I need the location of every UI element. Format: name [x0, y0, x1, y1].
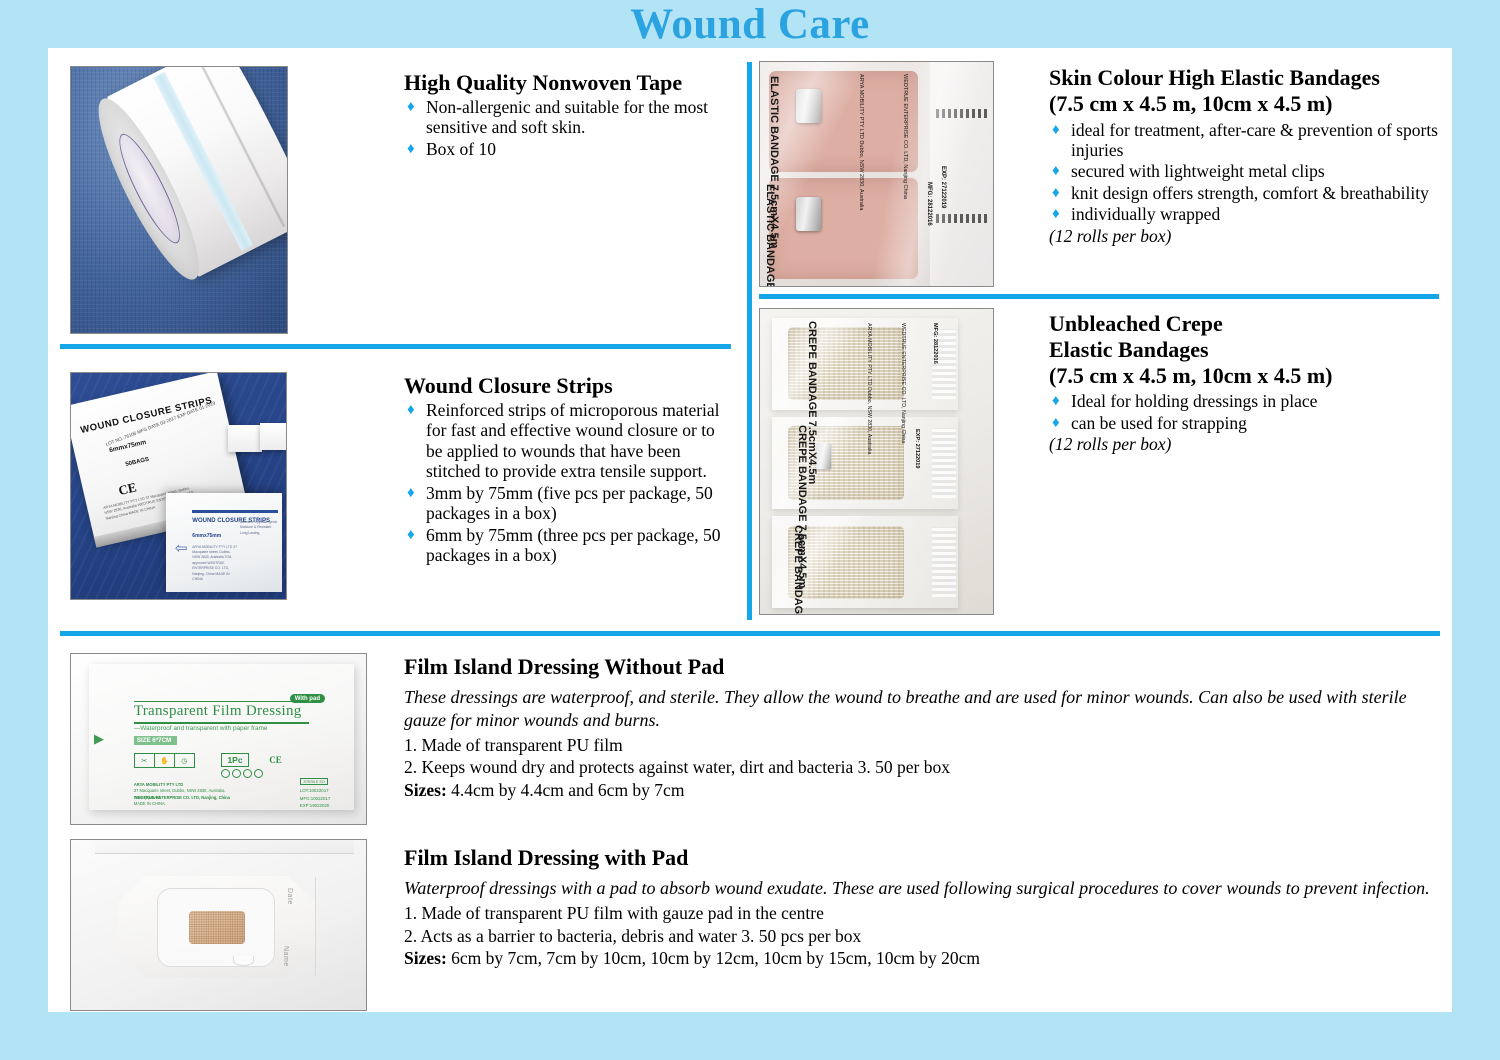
nonwoven-tape-roll-photo	[70, 66, 288, 334]
frame-tab-line	[315, 877, 316, 976]
dressing-pouch: ▶ With pad Transparent Film Dressing —Wa…	[89, 664, 355, 810]
do-not-reuse-icon	[221, 769, 230, 778]
wound-closure-strips-sachet: WOUND CLOSURE STRIPS 6mmx75mm ARYA MOBIL…	[166, 493, 282, 592]
diamond-bullet-icon: ♦	[407, 527, 415, 545]
elastic-bandage-roll-1	[769, 71, 918, 172]
film-dressing-without-pad-lead: These dressings are waterproof, and ster…	[404, 686, 1434, 731]
sachet-features-text: Adhesive Hypoallergenic Moisture & Resis…	[240, 520, 278, 537]
diamond-bullet-icon: ♦	[407, 402, 415, 420]
pouch-company-2-note: MADE IN CHINA.	[134, 801, 166, 806]
list-item-label: ideal for treatment, after-care & preven…	[1071, 120, 1438, 160]
bandage-exp-text: EXP: 27122019	[940, 166, 946, 208]
name-label: Name	[282, 946, 289, 967]
diamond-bullet-icon: ♦	[1052, 415, 1060, 433]
bandage-mfg-text: MFG: 28122016	[926, 182, 932, 226]
diamond-bullet-icon: ♦	[1052, 185, 1060, 203]
pouch-pictogram-group: ✂ ✋ ◷	[134, 753, 195, 768]
nonwoven-tape-bullet-list: ♦ Non-allergenic and suitable for the mo…	[404, 97, 734, 159]
date-label: Date	[286, 888, 293, 905]
diamond-bullet-icon: ♦	[407, 485, 415, 503]
list-item: ♦ individually wrapped	[1049, 204, 1449, 224]
metal-clip-icon	[796, 89, 821, 123]
list-item-label: 3mm by 75mm (five pcs per package, 50 pa…	[426, 483, 713, 523]
wound-closure-strips-text: Wound Closure Strips ♦ Reinforced strips…	[404, 374, 734, 567]
film-dressing-with-pad-line-2: 2. Acts as a barrier to bacteria, debris…	[404, 925, 1434, 948]
list-item-label: Box of 10	[426, 139, 496, 159]
diamond-bullet-icon: ♦	[407, 99, 415, 117]
pouch-lot-code: LOT:10022017	[300, 787, 331, 795]
elastic-bandage-roll-2	[769, 178, 918, 279]
sachet-size: 6mmx75mm	[192, 533, 221, 539]
nonwoven-tape-text: High Quality Nonwoven Tape ♦ Non-allerge…	[404, 71, 734, 160]
skin-colour-bandages-text: Skin Colour High Elastic Bandages (7.5 c…	[1049, 66, 1449, 246]
divider-bottom-section	[60, 631, 1440, 636]
product-film-dressing-without-pad: ▶ With pad Transparent Film Dressing —Wa…	[48, 645, 1452, 830]
metal-clip-icon	[796, 197, 821, 231]
unbleached-crepe-bandages-photo: CREPE BANDAGE 7.5cmX4.5m CREPE BANDAGE 7…	[759, 308, 994, 615]
film-dressing-without-pad-title: Film Island Dressing Without Pad	[404, 655, 1434, 679]
unbleached-crepe-note: (12 rolls per box)	[1049, 434, 1449, 454]
crepe-mfg-text: MFG: 28122016	[932, 323, 938, 364]
diamond-bullet-icon: ♦	[1052, 122, 1060, 140]
content-sheet: High Quality Nonwoven Tape ♦ Non-allerge…	[48, 48, 1452, 1012]
pouch-company-2: WEDTRUE ENTERPRISE CO. LTD, Nanjing, Chi…	[134, 795, 256, 808]
ce-mark-icon: CE	[269, 755, 282, 765]
pouch-brand-name: Transparent Film Dressing	[134, 703, 302, 720]
unbleached-crepe-title-line2: Elastic Bandages	[1049, 338, 1449, 362]
bandage-label-roll2: ELASTIC BANDAGE 7.5cmX4.5m	[764, 184, 776, 287]
pouch-quantity-badge: 1Pc	[221, 753, 248, 767]
bandage-maker-text: WEDTRUE ENTERPRISE CO. LTD, Nanjing Chin…	[902, 74, 908, 199]
do-not-use-if-damaged-icon	[232, 769, 241, 778]
sachet-header-bar	[192, 510, 278, 513]
sachet-company-text: ARYA MOBILITY PTY LTD 37 Macquarie stree…	[192, 545, 238, 583]
list-item: ♦ Non-allergenic and suitable for the mo…	[404, 97, 734, 138]
with-pad-badge: With pad	[290, 694, 325, 703]
pouch-rule-bottom	[134, 722, 309, 724]
closure-strip-sample-1	[228, 425, 262, 452]
island-dressing-with-pad-photo: Date Name	[70, 839, 367, 1011]
sizes-value: 4.4cm by 4.4cm and 6cm by 7cm	[451, 780, 684, 800]
pouch-exp-code: EXP:19022020	[300, 802, 331, 810]
film-dressing-with-pad-sizes: Sizes: 6cm by 7cm, 7cm by 10cm, 10cm by …	[404, 947, 1434, 970]
page-title: Wound Care	[630, 3, 870, 46]
bandage-brand-text: ARYA MOBILITY PTY LTD Dubbo, NSW 2830, A…	[858, 74, 864, 210]
skin-colour-bandages-note: (12 rolls per box)	[1049, 226, 1449, 246]
sizes-label: Sizes:	[404, 948, 447, 968]
diamond-bullet-icon: ♦	[1052, 163, 1060, 181]
crepe-brand-text: ARYA MOBILITY PTY LTD Dubbo, NSW 2830, A…	[866, 323, 872, 454]
crepe-maker-text: WEDTRUE ENTERPRISE CO. LTD, Nanjing Chin…	[900, 323, 906, 443]
skin-colour-bandages-title-line2: (7.5 cm x 4.5 m, 10cm x 4.5 m)	[1049, 92, 1449, 116]
tear-tab-icon: ▶	[94, 731, 104, 747]
peel-icon: ◷	[175, 754, 194, 767]
list-item: ♦ ideal for treatment, after-care & prev…	[1049, 120, 1449, 161]
tear-arrow-icon: ⇦	[175, 539, 188, 558]
plastic-wrap-sheen	[772, 318, 958, 410]
wound-closure-strips-bullet-list: ♦ Reinforced strips of microporous mater…	[404, 400, 734, 566]
crepe-bandage-packet-1	[772, 318, 958, 410]
unbleached-crepe-bullet-list: ♦ Ideal for holding dressings in place ♦…	[1049, 391, 1449, 433]
diamond-bullet-icon: ♦	[1052, 206, 1060, 224]
pouch-codes: LOT:10022017 MFG:10022017 EXP:19022020	[300, 787, 331, 810]
film-dressing-without-pad-line-2: 2. Keeps wound dry and protects against …	[404, 756, 1434, 779]
nonwoven-tape-title: High Quality Nonwoven Tape	[404, 71, 734, 95]
diamond-bullet-icon: ♦	[407, 141, 415, 159]
hand-apply-icon: ✋	[155, 754, 175, 767]
list-item-label: can be used for strapping	[1071, 413, 1247, 433]
list-item: ♦ Reinforced strips of microporous mater…	[404, 400, 734, 482]
list-item-label: secured with lightweight metal clips	[1071, 161, 1325, 181]
frame-notch	[233, 956, 254, 966]
pouch-mfg-code: MFG:10022017	[300, 795, 331, 803]
wound-closure-strips-title: Wound Closure Strips	[404, 374, 734, 398]
sizes-label: Sizes:	[404, 780, 447, 800]
product-film-dressing-with-pad: Date Name Film Island Dressing with Pad …	[48, 831, 1452, 1012]
closure-strip-sample-2	[260, 423, 286, 450]
gauze-pad	[189, 911, 245, 943]
unbleached-crepe-title-line3: (7.5 cm x 4.5 m, 10cm x 4.5 m)	[1049, 364, 1449, 388]
list-item-label: individually wrapped	[1071, 204, 1220, 224]
film-dressing-with-pad-text: Film Island Dressing with Pad Waterproof…	[404, 846, 1434, 970]
read-instructions-icon	[254, 769, 263, 778]
sterile-badge: STERILE EO	[300, 778, 327, 785]
list-item: ♦ 6mm by 75mm (three pcs per package, 50…	[404, 525, 734, 566]
use-by-icon	[243, 769, 252, 778]
list-item-label: knit design offers strength, comfort & b…	[1071, 183, 1429, 203]
diamond-bullet-icon: ♦	[1052, 393, 1060, 411]
pouch-company-1-name: ARYA MOBILITY PTY LTD	[134, 782, 183, 787]
film-dressing-with-pad-line-1: 1. Made of transparent PU film with gauz…	[404, 902, 1434, 925]
film-dressing-with-pad-lead: Waterproof dressings with a pad to absor…	[404, 877, 1434, 900]
pouch-edge-above	[95, 839, 355, 854]
pouch-size-label: SIZE 6*7CM	[134, 736, 177, 745]
pouch-subtitle: —Waterproof and transparent with paper f…	[134, 725, 268, 732]
scissors-icon: ✂	[135, 754, 155, 767]
product-nonwoven-tape: High Quality Nonwoven Tape ♦ Non-allerge…	[48, 48, 748, 344]
film-dressing-without-pad-text: Film Island Dressing Without Pad These d…	[404, 655, 1434, 802]
pouch-company-2-name: WEDTRUE ENTERPRISE CO. LTD, Nanjing, Chi…	[134, 795, 230, 800]
unbleached-crepe-title-line1: Unbleached Crepe	[1049, 312, 1449, 336]
list-item: ♦ can be used for strapping	[1049, 413, 1449, 433]
list-item: ♦ 3mm by 75mm (five pcs per package, 50 …	[404, 483, 734, 524]
list-item-label: 6mm by 75mm (three pcs per package, 50 p…	[426, 525, 721, 565]
unbleached-crepe-text: Unbleached Crepe Elastic Bandages (7.5 c…	[1049, 312, 1449, 455]
skin-colour-elastic-bandages-photo: ELASTIC BANDAGE 7.5cmX4.5m ELASTIC BANDA…	[759, 61, 994, 287]
list-item: ♦ knit design offers strength, comfort &…	[1049, 183, 1449, 203]
sizes-value: 6cm by 7cm, 7cm by 10cm, 10cm by 12cm, 1…	[451, 948, 980, 968]
product-unbleached-crepe-bandages: CREPE BANDAGE 7.5cmX4.5m CREPE BANDAGE 7…	[759, 300, 1449, 620]
divider-right-column	[759, 294, 1439, 299]
list-item: ♦ Ideal for holding dressings in place	[1049, 391, 1449, 411]
pouch-warning-symbols	[221, 769, 317, 778]
product-skin-colour-bandages: ELASTIC BANDAGE 7.5cmX4.5m ELASTIC BANDA…	[759, 48, 1449, 294]
page-header: Wound Care	[0, 0, 1500, 48]
product-wound-closure-strips: WOUND CLOSURE STRIPS 6mmx75mm 50BAGS CE …	[48, 348, 748, 628]
crepe-label-packet3: CREPE BANDAGE 7.5cmX4.5m	[792, 525, 804, 615]
box-quantity: 50BAGS	[125, 456, 150, 467]
skin-colour-bandages-bullet-list: ♦ ideal for treatment, after-care & prev…	[1049, 120, 1449, 225]
skin-colour-bandages-title-line1: Skin Colour High Elastic Bandages	[1049, 66, 1449, 90]
list-item: ♦ Box of 10	[404, 139, 734, 159]
list-item-label: Non-allergenic and suitable for the most…	[426, 97, 708, 137]
list-item: ♦ secured with lightweight metal clips	[1049, 161, 1449, 181]
crepe-exp-text: EXP: 27122019	[914, 429, 920, 469]
film-dressing-without-pad-sizes: Sizes: 4.4cm by 4.4cm and 6cm by 7cm	[404, 779, 1434, 802]
film-dressing-without-pad-line-1: 1. Made of transparent PU film	[404, 734, 1434, 757]
film-dressing-with-pad-title: Film Island Dressing with Pad	[404, 846, 1434, 870]
pouch-company-1-address: 37 Macquarie street, Dubbo, NSW 2830, Au…	[134, 788, 226, 793]
list-item-label: Ideal for holding dressings in place	[1071, 391, 1317, 411]
wound-closure-strips-photo: WOUND CLOSURE STRIPS 6mmx75mm 50BAGS CE …	[70, 372, 287, 600]
transparent-film-dressing-pouch-photo: ▶ With pad Transparent Film Dressing —Wa…	[70, 653, 367, 825]
list-item-label: Reinforced strips of microporous materia…	[426, 400, 720, 481]
ce-mark-icon: CE	[117, 479, 138, 499]
